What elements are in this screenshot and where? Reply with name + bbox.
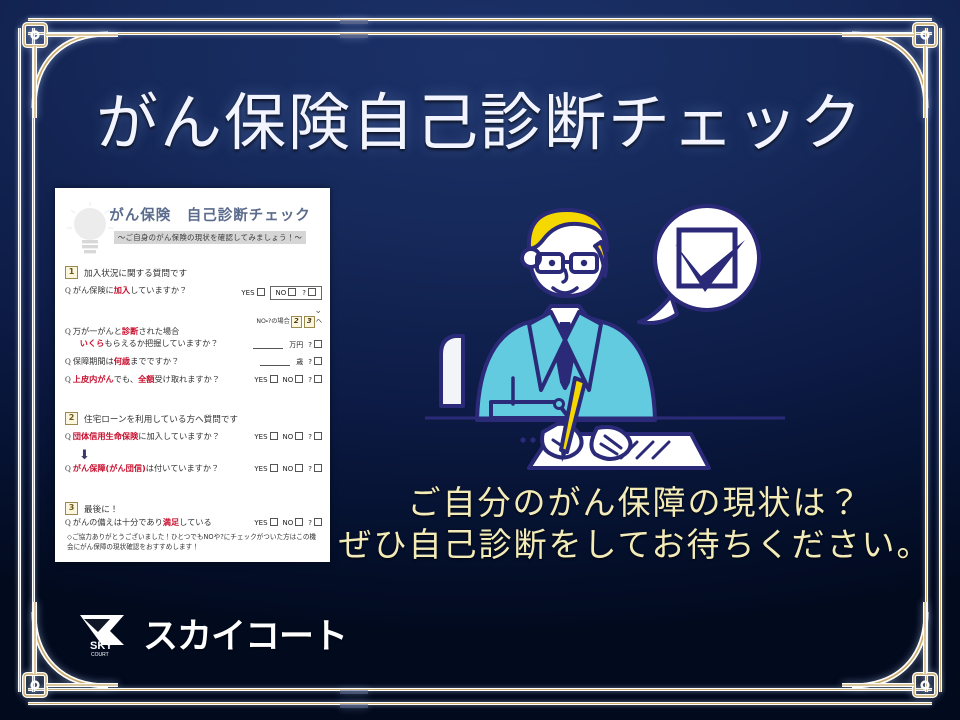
q-marker: Q [65,285,71,297]
answer-no[interactable]: NO [283,432,304,442]
form-section-2: 2 住宅ローンを利用している方へ質問です Q 団体信用生命保険に加入していますか… [65,412,322,481]
checkbox[interactable] [295,432,303,440]
q5-suffix: に加入していますか？ [138,431,220,441]
section-label: 最後に！ [84,503,118,515]
answer-yes[interactable]: YES [254,432,277,442]
branch-tail: へ [316,318,322,325]
q-marker: Q [65,356,71,368]
closing-message-line-1: ご自分のがん保障の現状は？ [330,482,940,524]
slide-canvas: がん保険自己診断チェック がん保険 自己診断チェック 〜ご自身のがん保険の現状を… [0,0,960,720]
self-check-form-image[interactable]: がん保険 自己診断チェック 〜ご自身のがん保険の現状を確認してみましょう！〜 1… [55,188,330,562]
answer-yes-label: YES [254,465,267,473]
checkbox[interactable] [270,432,278,440]
section-number-badge: 2 [65,412,78,425]
question-row[interactable]: Q 団体信用生命保険に加入していますか？ YES NO ? [65,431,322,443]
checkbox[interactable] [314,432,322,440]
answer-unknown-label: ? [308,519,312,527]
question-row[interactable]: Q 保障期間は何歳までですか？ 歳 ? [65,356,322,368]
question-row[interactable]: Q がん保障(がん団信)は付いていますか？ YES NO ? [65,463,322,475]
q1-highlight: 加入 [114,285,130,295]
answer-group[interactable]: YES NO ? [254,517,322,528]
checkbox[interactable] [295,518,303,526]
q7-prefix: がんの備えは十分であり [73,517,163,527]
section-2-header: 2 住宅ローンを利用している方へ質問です [65,412,322,425]
answer-group[interactable]: YES NO ? [254,431,322,442]
answer-no[interactable]: NO [283,375,304,385]
answer-unknown[interactable]: ? [308,518,322,528]
q3-prefix: 保障期間は [73,356,114,366]
q1-prefix: がん保険に [73,285,114,295]
q7-highlight: 満足 [163,517,179,527]
page-title: がん保険自己診断チェック [0,72,960,162]
q4-highlight2: 全額 [138,374,154,384]
answer-no-label: NO [283,465,294,473]
q-marker: Q [65,463,71,475]
q-marker: Q [65,517,71,529]
question-row[interactable]: Q がんの備えは十分であり満足している YES NO ? [65,517,322,529]
speech-bubble [639,206,759,323]
answer-group[interactable]: YES NO ? [254,374,322,385]
answer-unknown[interactable]: ? [308,340,322,350]
frame-bottom-inner [28,688,932,691]
q3-suffix: までですか？ [130,356,179,366]
question-text: 団体信用生命保険に加入していますか？ [73,431,255,443]
q7-suffix: している [179,517,212,527]
branch-note-text: NO・?の場合 [256,318,289,325]
form-section-1: 1 加入状況に関する質問です Q がん保険に加入していますか？ YES NO ?… [65,266,322,392]
branch-box-3[interactable]: 3 [304,316,315,328]
answer-no[interactable]: NO [283,518,304,528]
question-text: 保障期間は何歳までですか？ [73,356,261,368]
answer-no-label: NO [283,433,294,441]
answer-unknown[interactable]: ? [308,432,322,442]
answer-yes-label: YES [241,289,254,297]
q6-suffix: は付いていますか？ [146,463,219,473]
section-3-header: 3 最後に！ [65,502,322,515]
age-unit: 歳 [296,357,303,367]
answer-no-label: NO [276,289,287,297]
company-logo[interactable]: SKY COURT スカイコート [78,608,347,659]
answer-group[interactable]: 歳 ? [260,356,322,367]
q-marker: Q [65,374,71,386]
court-mark-text: COURT [91,652,109,657]
answer-yes-label: YES [254,519,267,527]
answer-no-label: NO [283,376,294,384]
q4-mid: でも、 [114,374,138,384]
q2-line1-highlight: 診断 [122,326,138,336]
question-row[interactable]: Q がん保険に加入していますか？ YES NO ? [65,285,322,300]
form-section-3: 3 最後に！ Q がんの備えは十分であり満足している YES NO ? [65,502,322,531]
age-input-blank[interactable] [260,358,290,366]
q-marker: Q [65,431,71,443]
answer-unknown[interactable]: ? [308,375,322,385]
form-footnote: ◇ご協力ありがとうございました！ひとつでもNOや?にチェックがついた方はこの機会… [67,532,320,552]
sky-court-bird-mark-icon: SKY COURT [78,611,134,657]
branch-note: ⌄ NO・?の場合23へ [65,306,322,328]
section-label: 住宅ローンを利用している方へ質問です [84,413,238,425]
q6-highlight: がん保障(がん団信) [73,463,146,473]
checkbox[interactable] [257,288,265,296]
answer-unknown-label: ? [308,341,312,349]
form-subtitle: 〜ご自身のがん保険の現状を確認してみましょう！〜 [114,231,306,244]
answer-group[interactable]: 万円 ? [253,339,322,350]
q2-line1-suffix: された場合 [138,326,179,336]
closing-message-line-2: ぜひ自己診断をしてお待ちください。 [330,524,940,566]
q-marker: Q [65,326,71,338]
q1-suffix: していますか？ [130,285,187,295]
answer-unknown-label: ? [308,376,312,384]
answer-yes[interactable]: YES [241,288,264,298]
answer-unknown[interactable]: ? [302,288,316,298]
frame-top-inner [28,32,932,35]
down-arrow-icon: ⬇ [79,449,322,462]
question-text: 上皮内がんでも、全額受け取れますか？ [73,374,255,386]
answer-unknown[interactable]: ? [308,357,322,367]
question-text: 万が一がんと診断された場合 いくらもらえるか把握していますか？ [73,326,254,350]
question-text: がん保険に加入していますか？ [73,285,242,297]
question-row[interactable]: Q 万が一がんと診断された場合 いくらもらえるか把握していますか？ 万円 ? [65,326,322,350]
q2-line2-highlight: いくら [80,338,105,348]
q2-line2-suffix: もらえるか把握していますか？ [104,338,218,348]
question-text: がん保障(がん団信)は付いていますか？ [73,463,255,475]
answer-yes[interactable]: YES [254,518,277,528]
amount-unit: 万円 [289,340,303,350]
answer-yes[interactable]: YES [254,464,277,474]
answer-group[interactable]: YES NO ? [254,463,322,474]
answer-unknown-label: ? [302,289,306,297]
checkbox[interactable] [314,375,322,383]
answer-yes[interactable]: YES [254,375,277,385]
consultant-illustration [425,196,785,486]
answer-no[interactable]: NO [283,464,304,474]
answer-no[interactable]: NO [276,288,297,298]
checkbox[interactable] [288,288,296,296]
checkbox[interactable] [314,357,322,365]
amount-input-blank[interactable] [253,341,283,349]
checkbox[interactable] [270,375,278,383]
company-name: スカイコート [143,608,347,659]
section-1-header: 1 加入状況に関する質問です [65,266,322,279]
branch-box-2[interactable]: 2 [291,316,302,328]
q4-suffix: 受け取れますか？ [154,374,220,384]
answer-no-label: NO [283,519,294,527]
frame-top-outer [28,18,932,21]
q5-highlight: 団体信用生命保険 [73,431,139,441]
checkbox[interactable] [270,464,278,472]
checkbox[interactable] [314,340,322,348]
answer-unknown[interactable]: ? [308,464,322,474]
answer-yes-label: YES [254,433,267,441]
q3-highlight: 何歳 [114,356,130,366]
checkbox[interactable] [270,518,278,526]
answer-unknown-label: ? [308,358,312,366]
checkbox[interactable] [314,518,322,526]
answer-group[interactable]: YES NO ? [241,285,322,300]
closing-message: ご自分のがん保障の現状は？ ぜひ自己診断をしてお待ちください。 [330,482,940,566]
q4-highlight1: 上皮内がん [73,374,114,384]
answer-unknown-label: ? [308,433,312,441]
form-header: がん保険 自己診断チェック 〜ご自身のがん保険の現状を確認してみましょう！〜 [95,204,325,244]
checkbox[interactable] [314,464,322,472]
section-number-badge: 1 [65,266,78,279]
checkbox[interactable] [295,464,303,472]
checkbox[interactable] [308,288,316,296]
checkbox[interactable] [295,375,303,383]
q2-line1-prefix: 万が一がんと [73,326,122,336]
form-title: がん保険 自己診断チェック [95,204,325,225]
question-row[interactable]: Q 上皮内がんでも、全額受け取れますか？ YES NO ? [65,374,322,386]
answer-yes-label: YES [254,376,267,384]
section-number-badge: 3 [65,502,78,515]
answer-no-q-box[interactable]: NO ? [270,286,322,300]
sky-mark-text: SKY [90,640,113,652]
section-label: 加入状況に関する質問です [84,267,187,279]
answer-unknown-label: ? [308,465,312,473]
frame-bottom-outer [28,702,932,705]
question-text: がんの備えは十分であり満足している [73,517,255,529]
